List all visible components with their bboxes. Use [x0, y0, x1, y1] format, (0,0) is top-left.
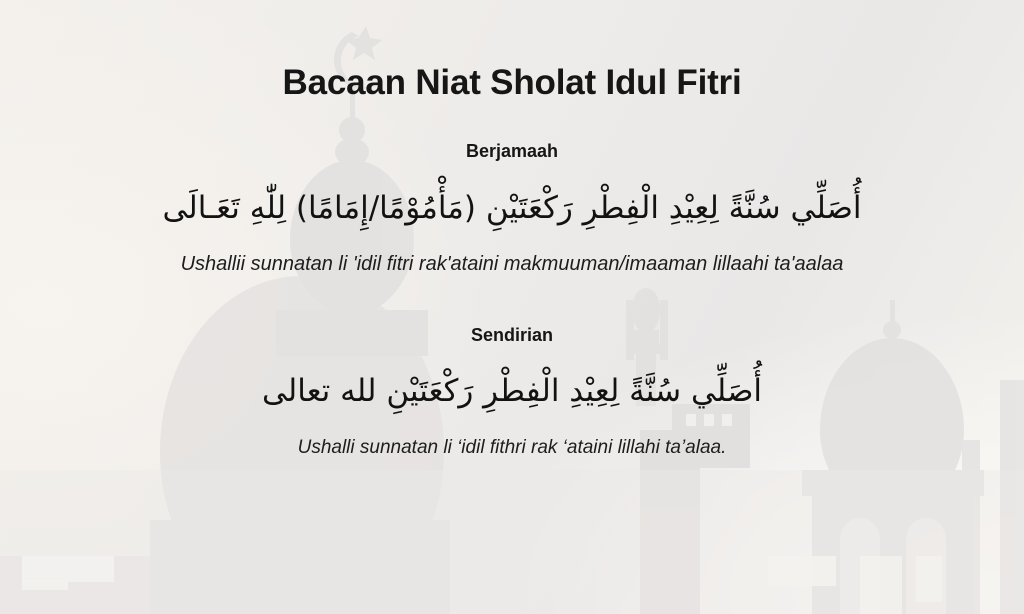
section-berjamaah: Berjamaah أُصَلِّي سُنَّةً لِعِيْدِ الْف… — [0, 103, 1024, 279]
content-stack: Bacaan Niat Sholat Idul Fitri Berjamaah … — [0, 0, 1024, 614]
infographic-card: Bacaan Niat Sholat Idul Fitri Berjamaah … — [0, 0, 1024, 614]
section-label-berjamaah: Berjamaah — [0, 141, 1024, 163]
section-sendirian: Sendirian أُصَلِّي سُنَّةً لِعِيْدِ الْف… — [0, 278, 1024, 461]
page-title: Bacaan Niat Sholat Idul Fitri — [283, 0, 742, 103]
arabic-text-sendirian: أُصَلِّي سُنَّةً لِعِيْدِ الْفِطْرِ رَكْ… — [0, 347, 1024, 415]
transliteration-sendirian: Ushalli sunnatan li ‘idil fithri rak ‘at… — [62, 415, 962, 462]
transliteration-berjamaah: Ushallii sunnatan li 'idil fitri rak'ata… — [97, 232, 927, 278]
section-label-sendirian: Sendirian — [0, 325, 1024, 347]
arabic-text-berjamaah: أُصَلِّي سُنَّةً لِعِيْدِ الْفِطْرِ رَكْ… — [0, 162, 1024, 232]
